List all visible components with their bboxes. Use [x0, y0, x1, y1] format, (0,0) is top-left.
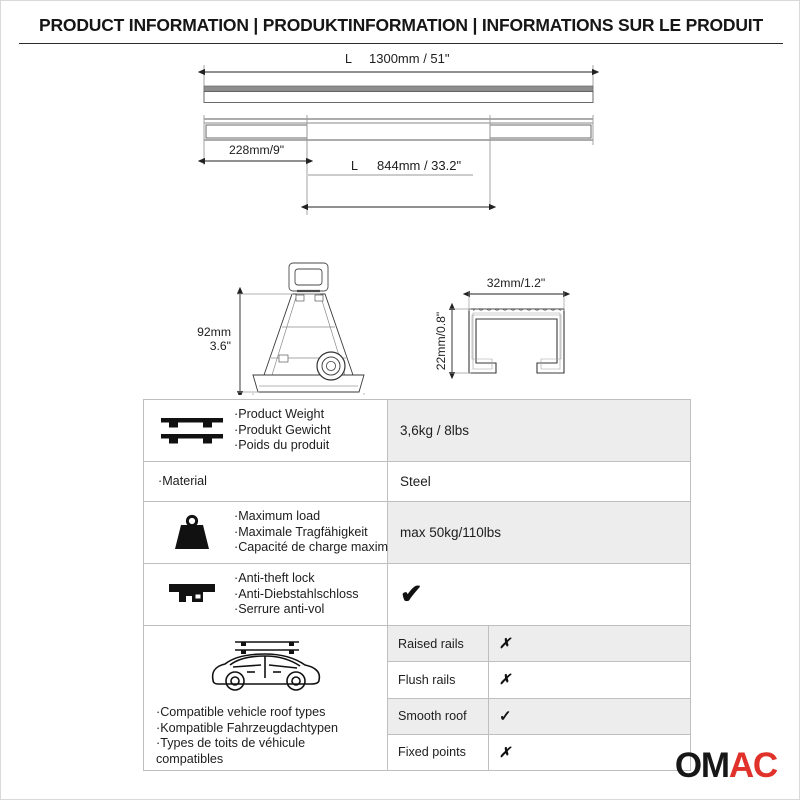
roof-option-name: Smooth roof	[388, 699, 489, 734]
roof-option-mark: ✗	[489, 626, 690, 661]
dim-span-value: 844mm / 33.2"	[377, 158, 461, 173]
cross-mark-icon: ✗	[499, 671, 511, 688]
table-row: ·Compatible vehicle roof types ·Kompatib…	[144, 626, 690, 770]
roof-option-name: Flush rails	[388, 662, 489, 697]
label-line-en: ·Maximum load	[234, 509, 405, 524]
row-label-roof-types: ·Compatible vehicle roof types ·Kompatib…	[144, 626, 388, 770]
row-label-texts: ·Material	[158, 474, 383, 489]
dim-foot-height-line2: 3.6"	[210, 339, 231, 353]
row-value-material: Steel	[388, 462, 690, 501]
profile-cross-section	[449, 291, 564, 373]
label-line-de: ·Kompatible Fahrzeugdachtypen	[156, 721, 338, 737]
dim-profile-width-value: 32mm/1.2"	[487, 276, 546, 290]
label-line-fr: ·Capacité de charge maximale	[234, 540, 405, 555]
dim-end-offset-value: 228mm/9"	[229, 143, 284, 157]
tick-mark-icon: ✓	[499, 707, 512, 725]
product-information-sheet: PRODUCT INFORMATION | PRODUKTINFORMATION…	[0, 0, 800, 800]
row-label-texts: ·Maximum load ·Maximale Tragfähigkeit ·C…	[234, 509, 405, 555]
lock-icon	[150, 579, 234, 611]
label-line-fr: ·Poids du produit	[234, 438, 383, 453]
dim-total-length-value: 1300mm / 51"	[369, 51, 450, 66]
technical-drawing: L 1300mm / 51" 228mm/9" L 844mm / 33.2" …	[1, 45, 800, 395]
table-row: ·Product Weight ·Produkt Gewicht ·Poids …	[144, 400, 690, 462]
label-line-en: ·Material	[158, 474, 383, 489]
logo-text-accent: AC	[729, 746, 777, 785]
roof-option-mark: ✗	[489, 662, 690, 697]
check-mark-icon: ✔	[400, 581, 423, 608]
roof-option-row: Fixed points ✗	[388, 735, 690, 770]
row-label-material: ·Material	[144, 462, 388, 501]
table-row: ·Material Steel	[144, 462, 690, 502]
roof-option-row: Flush rails ✗	[388, 662, 690, 698]
label-line-fr: ·Serrure anti-vol	[234, 602, 383, 617]
table-row: ·Anti-theft lock ·Anti-Diebstahlschloss …	[144, 564, 690, 626]
logo-text-dark: OM	[675, 746, 729, 785]
label-line-de: ·Maximale Tragfähigkeit	[234, 525, 405, 540]
row-label-anti-theft: ·Anti-theft lock ·Anti-Diebstahlschloss …	[144, 564, 388, 625]
row-label-texts: ·Product Weight ·Produkt Gewicht ·Poids …	[234, 407, 383, 453]
crossbars-icon	[150, 413, 234, 449]
dim-span-prefix: L	[351, 159, 358, 173]
omac-logo: OMAC	[675, 748, 777, 783]
row-value-max-load: max 50kg/110lbs	[388, 502, 690, 563]
row-label-max-load: ·Maximum load ·Maximale Tragfähigkeit ·C…	[144, 502, 388, 563]
label-line-fr: ·Types de toits de véhicule	[156, 736, 338, 752]
roof-option-name: Raised rails	[388, 626, 489, 661]
row-value-anti-theft: ✔	[388, 564, 690, 625]
table-row: ·Maximum load ·Maximale Tragfähigkeit ·C…	[144, 502, 690, 564]
weight-icon	[150, 513, 234, 553]
dim-total-length-prefix: L	[345, 52, 352, 66]
roof-types-subtable: Raised rails ✗ Flush rails ✗ Smooth roof…	[388, 626, 690, 770]
label-line-de: ·Produkt Gewicht	[234, 423, 383, 438]
roof-option-mark: ✓	[489, 699, 690, 734]
cross-mark-icon: ✗	[499, 744, 511, 761]
row-label-texts: ·Anti-theft lock ·Anti-Diebstahlschloss …	[234, 571, 383, 617]
cross-mark-icon: ✗	[499, 635, 511, 652]
foot-front-view	[253, 263, 364, 392]
page-title: PRODUCT INFORMATION | PRODUKTINFORMATION…	[1, 15, 800, 36]
roof-option-row: Raised rails ✗	[388, 626, 690, 662]
dim-foot-height-line1: 92mm	[197, 325, 231, 339]
label-line-de: ·Anti-Diebstahlschloss	[234, 587, 383, 602]
roof-option-name: Fixed points	[388, 735, 489, 770]
roof-label-texts: ·Compatible vehicle roof types ·Kompatib…	[144, 705, 338, 768]
label-line-en: ·Anti-theft lock	[234, 571, 383, 586]
dim-span-between-feet	[308, 175, 489, 207]
roof-option-row: Smooth roof ✓	[388, 699, 690, 735]
drawing-canvas: L 1300mm / 51" 228mm/9" L 844mm / 33.2" …	[1, 45, 800, 395]
car-with-rack-icon	[203, 634, 328, 699]
label-line-en: ·Product Weight	[234, 407, 383, 422]
label-line-fr-cont: compatibles	[156, 752, 338, 768]
page-header: PRODUCT INFORMATION | PRODUKTINFORMATION…	[1, 15, 800, 36]
row-value-weight: 3,6kg / 8lbs	[388, 400, 690, 461]
row-label-weight: ·Product Weight ·Produkt Gewicht ·Poids …	[144, 400, 388, 461]
roof-option-mark: ✗	[489, 735, 690, 770]
specification-table: ·Product Weight ·Produkt Gewicht ·Poids …	[143, 399, 691, 771]
crossbar-side-view	[204, 86, 593, 103]
header-divider	[19, 43, 783, 44]
label-line-en: ·Compatible vehicle roof types	[156, 705, 338, 721]
dim-profile-height-value: 22mm/0.8"	[434, 312, 448, 371]
dim-foot-width	[253, 393, 364, 395]
